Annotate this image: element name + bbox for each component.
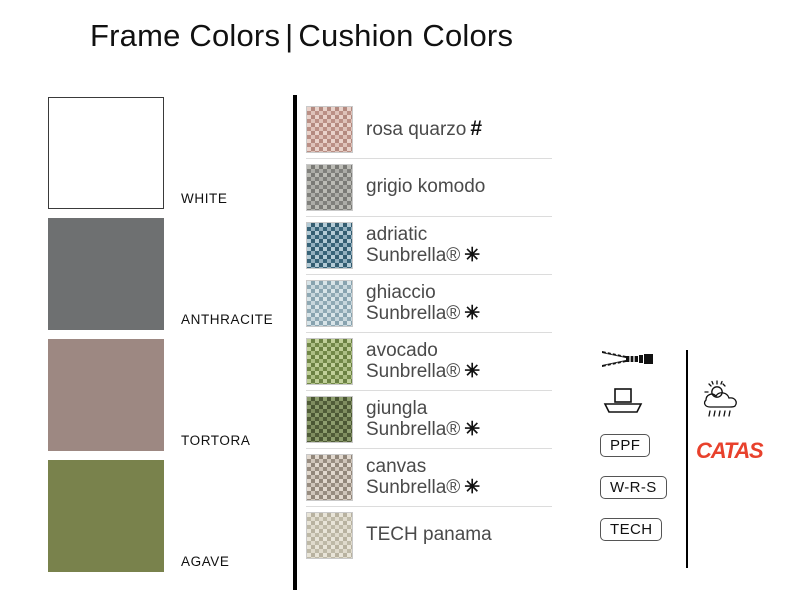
frame-color-label: TORTORA: [181, 433, 250, 448]
catas-logo: CATAS: [696, 438, 763, 464]
cushion-fabric-swatch[interactable]: [306, 396, 353, 443]
cushion-fabric-swatch[interactable]: [306, 164, 353, 211]
page-title: Frame Colors|Cushion Colors: [90, 18, 513, 54]
page-title-frame: Frame Colors: [90, 18, 280, 53]
legend-panel: PPFW-R-STECH CATAS: [600, 345, 790, 570]
cushion-fabric-swatch[interactable]: [306, 106, 353, 153]
cushion-brand-line: Sunbrella®✳: [366, 478, 480, 499]
cushion-fabric-swatch[interactable]: [306, 512, 353, 559]
cushion-color-text: avocadoSunbrella®✳: [366, 341, 480, 382]
asterisk-symbol: ✳: [460, 303, 480, 324]
cushion-color-text: canvasSunbrella®✳: [366, 457, 480, 498]
cushion-brand-line: Sunbrella®✳: [366, 420, 480, 441]
asterisk-symbol: ✳: [460, 245, 480, 266]
frame-color-label: ANTHRACITE: [181, 312, 273, 327]
tech-badge[interactable]: TECH: [600, 518, 662, 541]
cushion-color-text: TECH panama: [366, 525, 492, 546]
removable-cover-icon-item[interactable]: [600, 387, 680, 420]
wrs-badge-item[interactable]: W-R-S: [600, 471, 680, 504]
cushion-color-name: rosa quarzo: [366, 119, 466, 140]
cushion-fabric-swatch[interactable]: [306, 280, 353, 327]
removable-cover-icon: [600, 385, 646, 422]
cushion-brand-name: Sunbrella®: [366, 477, 460, 498]
cushion-color-row[interactable]: canvasSunbrella®✳: [306, 449, 552, 507]
cushion-brand-name: Sunbrella®: [366, 245, 460, 266]
center-divider: [293, 95, 297, 590]
cushion-color-row[interactable]: ghiaccioSunbrella®✳: [306, 275, 552, 333]
legend-divider: [686, 350, 688, 568]
cushion-brand-name: Sunbrella®: [366, 303, 460, 324]
cushion-brand-name: Sunbrella®: [366, 361, 460, 382]
asterisk-symbol: ✳: [460, 361, 480, 382]
cushion-colors-section: rosa quarzo#grigio komodoadriaticSunbrel…: [306, 101, 552, 564]
cushion-color-text: ghiaccioSunbrella®✳: [366, 283, 480, 324]
cushion-fabric-swatch[interactable]: [306, 338, 353, 385]
ppf-badge[interactable]: PPF: [600, 434, 650, 457]
frame-color-row[interactable]: TORTORA: [48, 339, 288, 454]
weather-resistant-icon-item[interactable]: [696, 387, 790, 420]
ppf-badge-item[interactable]: PPF: [600, 429, 680, 462]
frame-color-label: AGAVE: [181, 554, 230, 569]
cushion-color-name: giungla: [366, 398, 427, 419]
zipper-icon-item[interactable]: [600, 345, 680, 378]
wrs-badge[interactable]: W-R-S: [600, 476, 667, 499]
frame-color-row[interactable]: WHITE: [48, 97, 288, 212]
frame-color-swatch[interactable]: [48, 218, 164, 330]
cushion-color-row[interactable]: grigio komodo: [306, 159, 552, 217]
frame-color-label: WHITE: [181, 191, 228, 206]
legend-column-right: CATAS: [696, 345, 790, 476]
cushion-color-name: ghiaccio: [366, 282, 436, 303]
cushion-color-name: avocado: [366, 340, 438, 361]
frame-colors-section: WHITEANTHRACITETORTORAAGAVE: [48, 97, 288, 581]
cushion-color-row[interactable]: avocadoSunbrella®✳: [306, 333, 552, 391]
catas-logo-item[interactable]: CATAS: [696, 434, 790, 467]
page-title-separator: |: [280, 18, 298, 53]
cushion-color-name: grigio komodo: [366, 176, 485, 197]
cushion-color-row[interactable]: rosa quarzo#: [306, 101, 552, 159]
hash-symbol: #: [466, 117, 482, 140]
asterisk-symbol: ✳: [460, 477, 480, 498]
cushion-color-text: grigio komodo: [366, 177, 485, 198]
cushion-color-text: rosa quarzo#: [366, 119, 482, 141]
tech-badge-item[interactable]: TECH: [600, 513, 680, 546]
frame-color-row[interactable]: AGAVE: [48, 460, 288, 575]
asterisk-symbol: ✳: [460, 419, 480, 440]
cushion-brand-name: Sunbrella®: [366, 419, 460, 440]
cushion-color-row[interactable]: adriaticSunbrella®✳: [306, 217, 552, 275]
weather-resistant-icon: [696, 379, 756, 428]
cushion-color-row[interactable]: giunglaSunbrella®✳: [306, 391, 552, 449]
cushion-brand-line: Sunbrella®✳: [366, 362, 480, 383]
page-title-cushion: Cushion Colors: [298, 18, 513, 53]
cushion-brand-line: Sunbrella®✳: [366, 246, 480, 267]
frame-color-row[interactable]: ANTHRACITE: [48, 218, 288, 333]
frame-color-swatch[interactable]: [48, 460, 164, 572]
cushion-brand-line: Sunbrella®✳: [366, 304, 480, 325]
cushion-color-row[interactable]: TECH panama: [306, 507, 552, 564]
cushion-color-name: canvas: [366, 456, 426, 477]
cushion-color-text: adriaticSunbrella®✳: [366, 225, 480, 266]
cushion-fabric-swatch[interactable]: [306, 222, 353, 269]
legend-column-left: PPFW-R-STECH: [600, 345, 680, 555]
cushion-fabric-swatch[interactable]: [306, 454, 353, 501]
frame-color-swatch[interactable]: [48, 97, 164, 209]
cushion-color-text: giunglaSunbrella®✳: [366, 399, 480, 440]
cushion-color-name: TECH panama: [366, 524, 492, 545]
frame-color-swatch[interactable]: [48, 339, 164, 451]
zipper-icon: [600, 348, 656, 375]
cushion-color-name: adriatic: [366, 224, 427, 245]
